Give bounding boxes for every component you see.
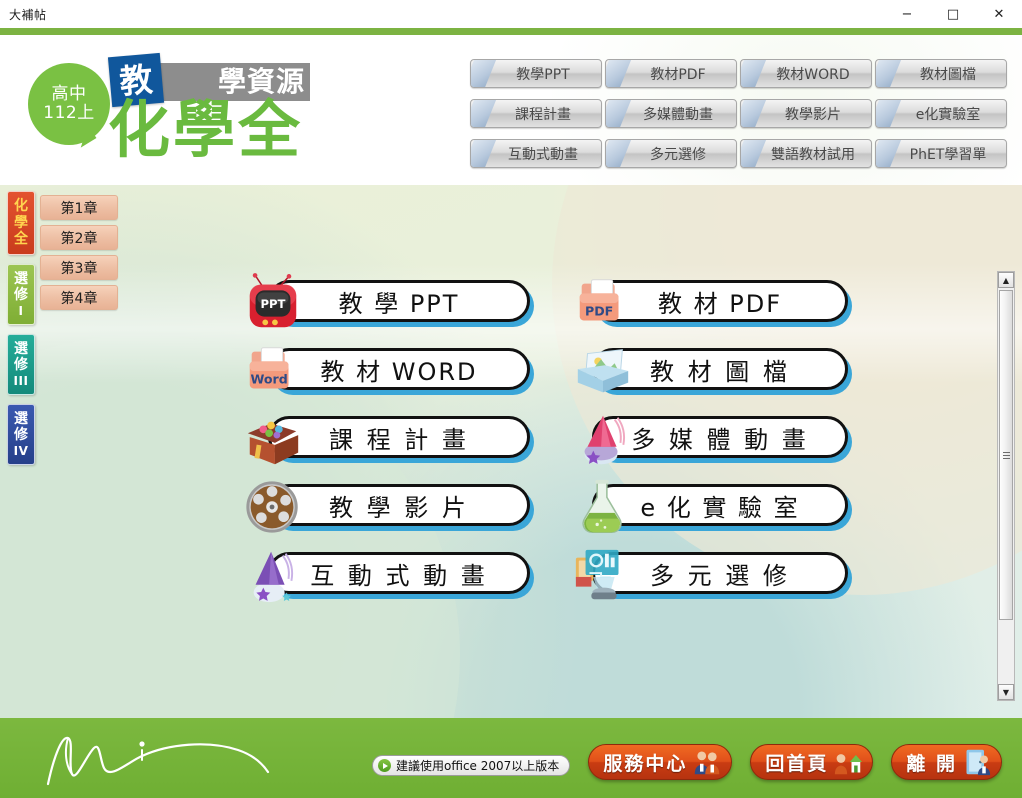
header-menu-label: 雙語教材試用 [771, 144, 855, 164]
header-menu-item-0[interactable]: 教學PPT [470, 59, 602, 88]
resource-button-label: 教 材 WORD [320, 352, 477, 387]
treasure-box-icon [242, 408, 304, 470]
pdf-folder-icon: PDF [572, 272, 634, 334]
header-menu-label: e化實驗室 [916, 104, 981, 124]
sidebar-tab-roman: I [19, 304, 24, 318]
menu-slash-icon [740, 99, 767, 128]
svg-text:PPT: PPT [261, 297, 286, 311]
sidebar-tab-char: 選 [14, 411, 28, 428]
resource-button-label: 教 材 PDF [658, 284, 782, 319]
header-menu-label: 互動式動畫 [508, 144, 578, 164]
minimize-button[interactable]: − [884, 0, 930, 28]
header: 高中 112上 學資源 教 化學全 教學PPT 教材PDF 教材WORD 教材圖… [0, 35, 1022, 185]
sidebar-tab-roman: IV [14, 444, 29, 458]
resource-button-label: 課 程 計 畫 [329, 420, 469, 455]
resource-button-pill: 教 學 影 片 [268, 484, 530, 526]
menu-slash-icon [740, 139, 767, 168]
resource-button-label: 互 動 式 動 畫 [310, 556, 488, 591]
resource-button-label: 教 材 圖 檔 [650, 352, 790, 387]
resource-button-interactive-animation[interactable]: 互 動 式 動 畫 [232, 542, 562, 610]
resource-button-label: 教 學 PPT [339, 284, 460, 319]
sidebar-item-elective-3[interactable]: 選 修 III [7, 334, 35, 395]
chapter-button-1[interactable]: 第1章 [40, 195, 118, 220]
sidebar-subject-tabs: 化 學 全 選 修 I 選 修 III 選 修 IV [7, 191, 37, 474]
resource-button-label: 多 媒 體 動 畫 [631, 420, 809, 455]
image-box-icon [572, 340, 634, 402]
menu-slash-icon [605, 59, 632, 88]
resource-button-material-pdf[interactable]: PDF 教 材 PDF [562, 270, 892, 338]
resource-button-label: e 化 實 驗 室 [640, 488, 799, 523]
header-menu-item-9[interactable]: 多元選修 [605, 139, 737, 168]
exit-label: 離 開 [906, 749, 957, 776]
header-menu-item-2[interactable]: 教材WORD [740, 59, 872, 88]
chapter-button-2[interactable]: 第2章 [40, 225, 118, 250]
grade-badge-line1: 高中 [52, 85, 87, 104]
menu-slash-icon [605, 99, 632, 128]
film-reel-icon [242, 476, 304, 538]
service-center-label: 服務中心 [603, 749, 687, 776]
menu-slash-icon [470, 99, 497, 128]
scrollbar-thumb[interactable] [999, 290, 1013, 620]
resource-button-label: 多 元 選 修 [650, 556, 790, 591]
scroll-up-button[interactable]: ▲ [998, 272, 1014, 288]
title-bar: 大補帖 − □ ✕ [0, 0, 1022, 28]
resource-button-teaching-ppt[interactable]: PPT 教 學 PPT [232, 270, 562, 338]
header-top-rule [0, 28, 1022, 35]
resource-button-pill: 教 材 WORD [268, 348, 530, 390]
resource-button-pill: 教 學 PPT [268, 280, 530, 322]
close-button[interactable]: ✕ [976, 0, 1022, 28]
header-menu-item-3[interactable]: 教材圖檔 [875, 59, 1007, 88]
header-menu-label: 課程計畫 [515, 104, 571, 124]
chapter-button-3[interactable]: 第3章 [40, 255, 118, 280]
header-menu-label: 多媒體動畫 [643, 104, 713, 124]
application-window: 大補帖 − □ ✕ 高中 112上 學資源 教 化學全 教學PPT 教材P [0, 0, 1022, 798]
resource-button-pill: 互 動 式 動 畫 [268, 552, 530, 594]
sidebar-tab-char: 全 [14, 231, 28, 248]
sidebar-item-elective-4[interactable]: 選 修 IV [7, 404, 35, 465]
resource-button-multimedia-animation[interactable]: 多 媒 體 動 畫 [562, 406, 892, 474]
resource-button-pill: 課 程 計 畫 [268, 416, 530, 458]
resource-button-material-word[interactable]: Word 教 材 WORD [232, 338, 562, 406]
header-menu-label: PhET學習單 [910, 144, 987, 164]
content-area: 化 學 全 選 修 I 選 修 III 選 修 IV 第1章 第2章 [0, 185, 1022, 718]
svg-text:Word: Word [250, 372, 287, 387]
content-scrollbar[interactable]: ▲ ▼ [997, 271, 1015, 701]
resource-button-teaching-video[interactable]: 教 學 影 片 [232, 474, 562, 542]
sidebar-tab-char: 選 [14, 271, 28, 288]
home-icon [834, 748, 862, 776]
header-menu-item-6[interactable]: 教學影片 [740, 99, 872, 128]
resource-label-text: 學資源 [218, 68, 305, 96]
word-folder-icon: Word [242, 340, 304, 402]
sidebar-tab-char: 修 [14, 287, 28, 304]
home-button[interactable]: 回首頁 [750, 744, 873, 780]
header-menu-label: 教材WORD [776, 64, 849, 84]
sidebar-tab-char: 修 [14, 427, 28, 444]
sidebar-tab-char: 選 [14, 341, 28, 358]
scrollbar-grip-icon [1003, 452, 1010, 459]
header-menu-label: 教學影片 [785, 104, 841, 124]
header-menu-grid: 教學PPT 教材PDF 教材WORD 教材圖檔 課程計畫 多媒體動畫 教學影片 … [470, 59, 1007, 168]
footer-button-group: 服務中心 回首頁 [588, 744, 1002, 780]
menu-slash-icon [470, 139, 497, 168]
sidebar-tab-char: 學 [14, 215, 28, 232]
flask-icon [572, 476, 634, 538]
sidebar-item-elective-1[interactable]: 選 修 I [7, 264, 35, 325]
header-menu-item-4[interactable]: 課程計畫 [470, 99, 602, 128]
chapter-list: 第1章 第2章 第3章 第4章 [40, 195, 118, 315]
maximize-button[interactable]: □ [930, 0, 976, 28]
scroll-down-button[interactable]: ▼ [998, 684, 1014, 700]
play-icon [378, 759, 391, 772]
magic-hat-purple-icon [242, 544, 304, 606]
sidebar-tab-char: 化 [14, 198, 28, 215]
resource-button-e-lab[interactable]: e 化 實 驗 室 [562, 474, 892, 542]
home-label: 回首頁 [765, 749, 828, 776]
header-menu-item-11[interactable]: PhET學習單 [875, 139, 1007, 168]
resource-button-material-images[interactable]: 教 材 圖 檔 [562, 338, 892, 406]
sidebar-item-chemistry-full[interactable]: 化 學 全 [7, 191, 35, 255]
svg-text:PDF: PDF [585, 304, 613, 319]
header-menu-label: 教材PDF [650, 64, 705, 84]
menu-slash-icon [605, 139, 632, 168]
resource-button-course-plan[interactable]: 課 程 計 畫 [232, 406, 562, 474]
office-version-hint-label: 建議使用office 2007以上版本 [396, 757, 559, 774]
menu-slash-icon [875, 59, 902, 88]
sidebar-tab-roman: III [14, 374, 29, 388]
resource-button-multi-elective[interactable]: 多 元 選 修 [562, 542, 892, 610]
magic-hat-pink-icon [572, 408, 634, 470]
ppt-tv-icon: PPT [242, 272, 304, 334]
header-menu-item-10[interactable]: 雙語教材試用 [740, 139, 872, 168]
chapter-button-4[interactable]: 第4章 [40, 285, 118, 310]
menu-slash-icon [470, 59, 497, 88]
grade-badge-line2: 112上 [43, 104, 94, 123]
exit-button[interactable]: 離 開 [891, 744, 1002, 780]
header-menu-item-5[interactable]: 多媒體動畫 [605, 99, 737, 128]
brand-logo: 高中 112上 學資源 教 化學全 [22, 55, 312, 183]
window-title: 大補帖 [9, 6, 47, 23]
projector-icon [572, 544, 634, 606]
header-menu-label: 教材圖檔 [920, 64, 976, 84]
menu-slash-icon [740, 59, 767, 88]
header-menu-label: 教學PPT [516, 64, 569, 84]
header-menu-label: 多元選修 [650, 144, 706, 164]
resource-button-grid: PPT 教 學 PPT PDF [232, 270, 892, 610]
nani-brand-logo [38, 726, 328, 790]
office-version-hint[interactable]: 建議使用office 2007以上版本 [372, 755, 570, 776]
exit-door-icon [963, 748, 991, 776]
resource-button-label: 教 學 影 片 [329, 488, 469, 523]
menu-slash-icon [875, 139, 902, 168]
page-title: 化學全 [108, 99, 303, 161]
service-center-button[interactable]: 服務中心 [588, 744, 732, 780]
menu-slash-icon [875, 99, 902, 128]
header-menu-item-1[interactable]: 教材PDF [605, 59, 737, 88]
service-people-icon [693, 748, 721, 776]
header-menu-item-8[interactable]: 互動式動畫 [470, 139, 602, 168]
window-controls: − □ ✕ [884, 0, 1022, 28]
sidebar-tab-char: 修 [14, 357, 28, 374]
header-menu-item-7[interactable]: e化實驗室 [875, 99, 1007, 128]
